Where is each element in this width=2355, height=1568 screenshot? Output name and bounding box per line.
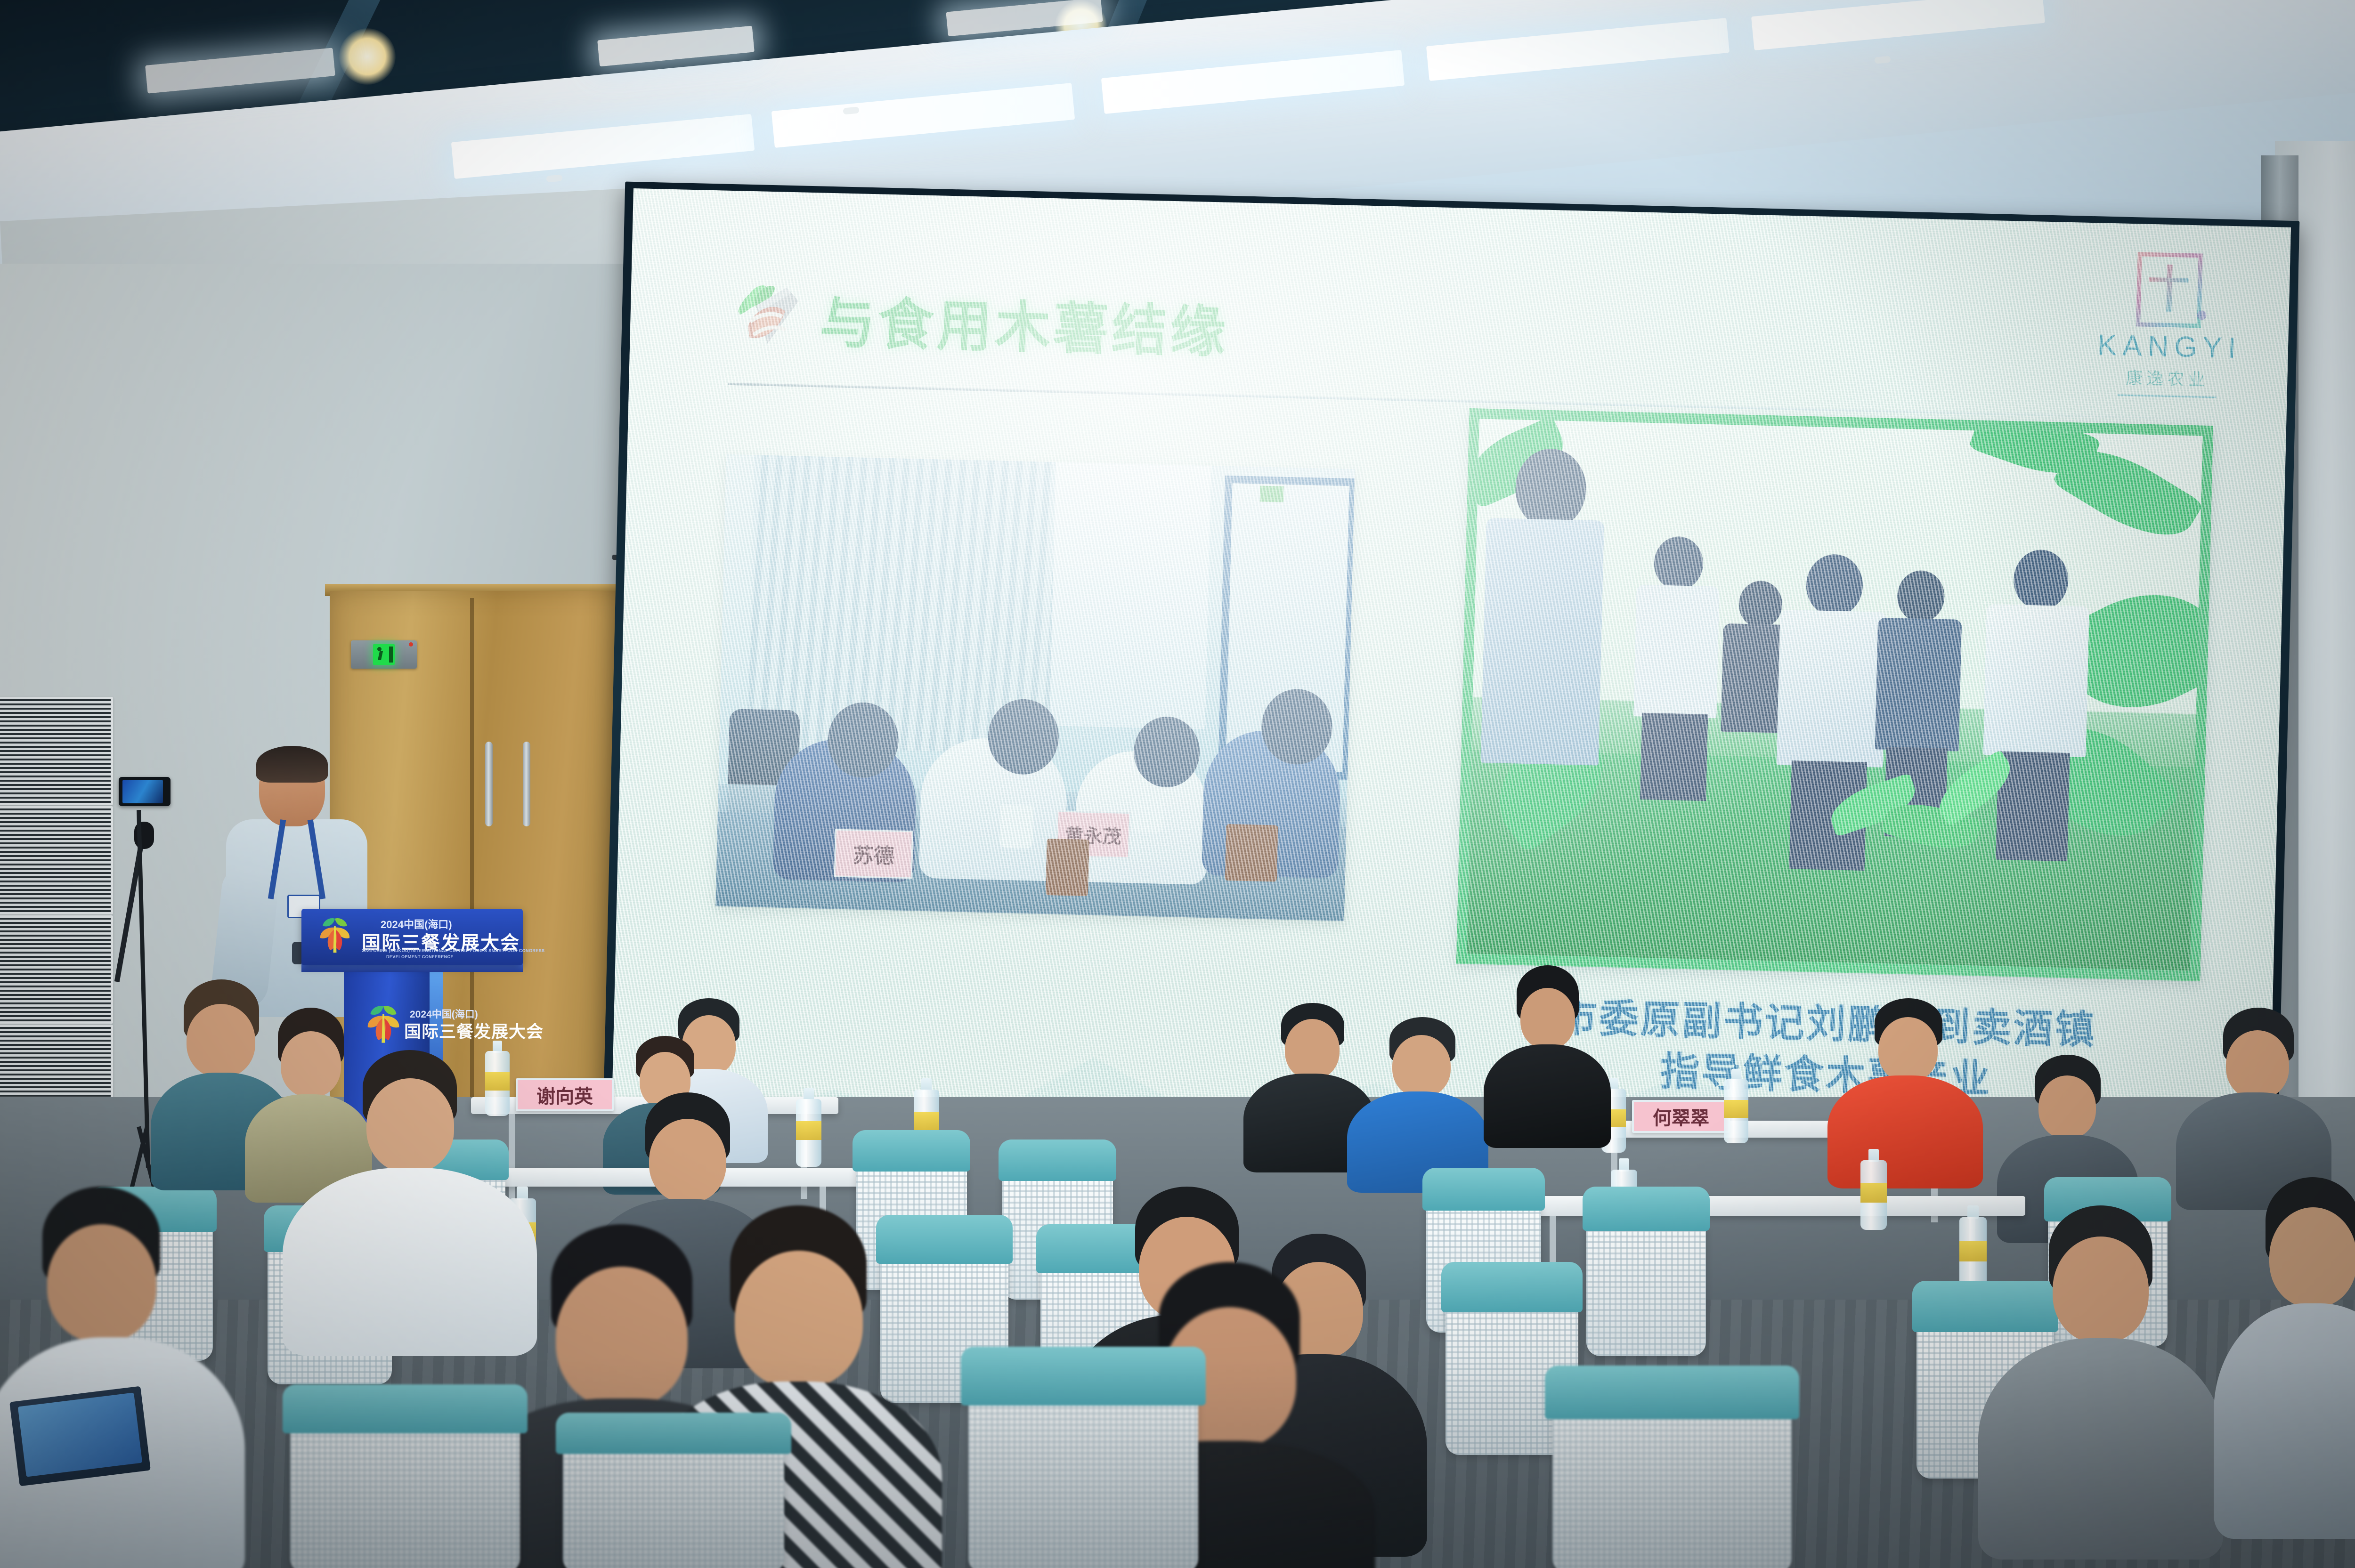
exit-sign xyxy=(351,640,417,669)
audience-chair[interactable] xyxy=(1545,1366,1799,1568)
registered-mark xyxy=(2197,310,2206,320)
audience-chair[interactable] xyxy=(283,1384,528,1568)
kangyi-seal-icon xyxy=(2136,252,2203,328)
audience-member xyxy=(2176,1008,2331,1205)
presenter-hair xyxy=(256,746,328,783)
audience-member xyxy=(1347,1017,1488,1172)
cassava-root-icon xyxy=(729,280,801,352)
podium-line3: 2024 CHINA (HAIKOU) INTERNATIONAL CAPITA… xyxy=(362,948,544,953)
cassava-field-visit-photo[interactable] xyxy=(1456,408,2213,981)
audience-member xyxy=(1978,1205,2223,1554)
water-bottle xyxy=(796,1088,821,1167)
audience-chair[interactable] xyxy=(1583,1187,1710,1356)
ceiling-spotlight xyxy=(339,28,396,85)
audience-chair[interactable] xyxy=(961,1347,1206,1568)
sancan-conference-logo xyxy=(315,915,355,956)
meeting-placard: 苏德 xyxy=(834,829,913,879)
audience-member xyxy=(1827,998,1983,1182)
audience-member-foreground xyxy=(0,1187,245,1568)
podium-front-panel: 2024中国(海口) 国际三餐发展大会 2024 CHINA (HAIKOU) … xyxy=(301,909,523,965)
audience-member xyxy=(1484,965,1611,1135)
laptop-screen[interactable] xyxy=(18,1392,142,1477)
podium-line4: DEVELOPMENT CONFERENCE xyxy=(386,954,454,959)
audience-member xyxy=(2214,1177,2355,1535)
exit-sign-indicator xyxy=(409,642,413,647)
podium-column-line2: 国际三餐发展大会 xyxy=(404,1018,544,1043)
brand-name-chinese: 康逸农业 xyxy=(2096,364,2238,391)
brand-name: KANGYI xyxy=(2097,328,2239,365)
door-handle[interactable] xyxy=(523,742,530,826)
door-handle[interactable] xyxy=(485,742,493,826)
brand-divider xyxy=(2118,394,2217,398)
conference-photo-scene: 与食用木薯结缘 KANGYI 康逸农业 xyxy=(0,0,2355,1568)
slide-title: 与食用木薯结缘 xyxy=(819,277,1230,367)
slide-title-row: 与食用木薯结缘 xyxy=(729,275,1230,368)
smartphone-screen[interactable] xyxy=(122,780,163,803)
water-bottle xyxy=(1724,1069,1748,1143)
meeting-room-photo[interactable]: 苏德 黄永茂 xyxy=(715,454,1355,921)
kangyi-brand-logo: KANGYI 康逸农业 xyxy=(2096,251,2241,398)
running-man-exit-icon xyxy=(373,644,395,665)
name-placard: 何翠翠 xyxy=(1632,1100,1730,1133)
water-bottle xyxy=(1860,1149,1887,1230)
audience-chair[interactable] xyxy=(556,1413,791,1568)
